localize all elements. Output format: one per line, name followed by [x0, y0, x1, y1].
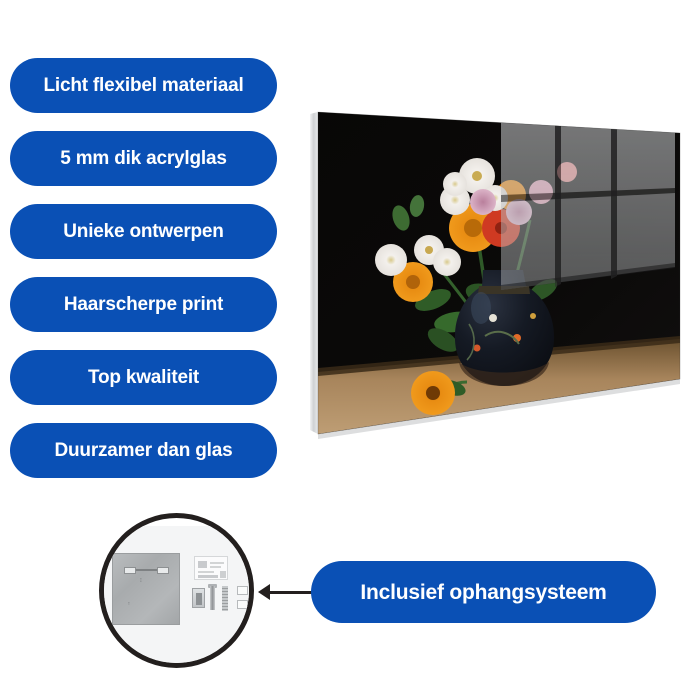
feature-pill-5[interactable]: Top kwaliteit: [10, 350, 277, 405]
feature-pill-label: Licht flexibel materiaal: [43, 76, 243, 95]
plate-slot-right: [157, 567, 169, 574]
arrow-left-icon: [258, 584, 270, 600]
feature-pill-3[interactable]: Unieke ontwerpen: [10, 204, 277, 259]
feature-pill-label: 5 mm dik acrylglas: [60, 149, 226, 168]
hanging-system-pill[interactable]: Inclusief ophangsysteem: [311, 561, 656, 623]
callout-arrow-line: [264, 591, 316, 594]
wall-plug-icon: [222, 586, 228, 611]
spacer-icon: [237, 586, 248, 595]
feature-pill-1[interactable]: Licht flexibel materiaal: [10, 58, 277, 113]
artwork-content: [305, 100, 685, 450]
feature-pill-2[interactable]: 5 mm dik acrylglas: [10, 131, 277, 186]
acrylic-print-preview: [305, 100, 685, 450]
hardware-pack-icon: [192, 588, 205, 608]
hanging-kit-photo: ▪▪▪ ▪▪: [99, 526, 254, 666]
hanging-kit-circle: ▪▪▪ ▪▪: [99, 513, 254, 668]
instruction-sheet-icon: [194, 556, 228, 580]
spacer-icon: [237, 600, 248, 609]
artwork-svg: [305, 100, 685, 450]
feature-pill-label: Top kwaliteit: [88, 368, 199, 387]
feature-pill-6[interactable]: Duurzamer dan glas: [10, 423, 277, 478]
plate-text: ▪▪: [127, 602, 131, 605]
plate-slot-left: [124, 567, 136, 574]
plate-text: ▪▪▪: [139, 578, 143, 582]
feature-pill-label: Duurzamer dan glas: [54, 441, 232, 460]
window-reflection-overlay: [501, 116, 675, 290]
hanging-system-label: Inclusief ophangsysteem: [360, 582, 606, 603]
mounting-plate-icon: ▪▪▪ ▪▪: [112, 553, 180, 625]
promo-graphic: Licht flexibel materiaal 5 mm dik acrylg…: [0, 0, 700, 700]
acrylic-edge-left: [310, 112, 318, 434]
screw-icon: [210, 586, 215, 610]
feature-pill-label: Haarscherpe print: [64, 295, 223, 314]
feature-pill-label: Unieke ontwerpen: [63, 222, 223, 241]
feature-pill-4[interactable]: Haarscherpe print: [10, 277, 277, 332]
